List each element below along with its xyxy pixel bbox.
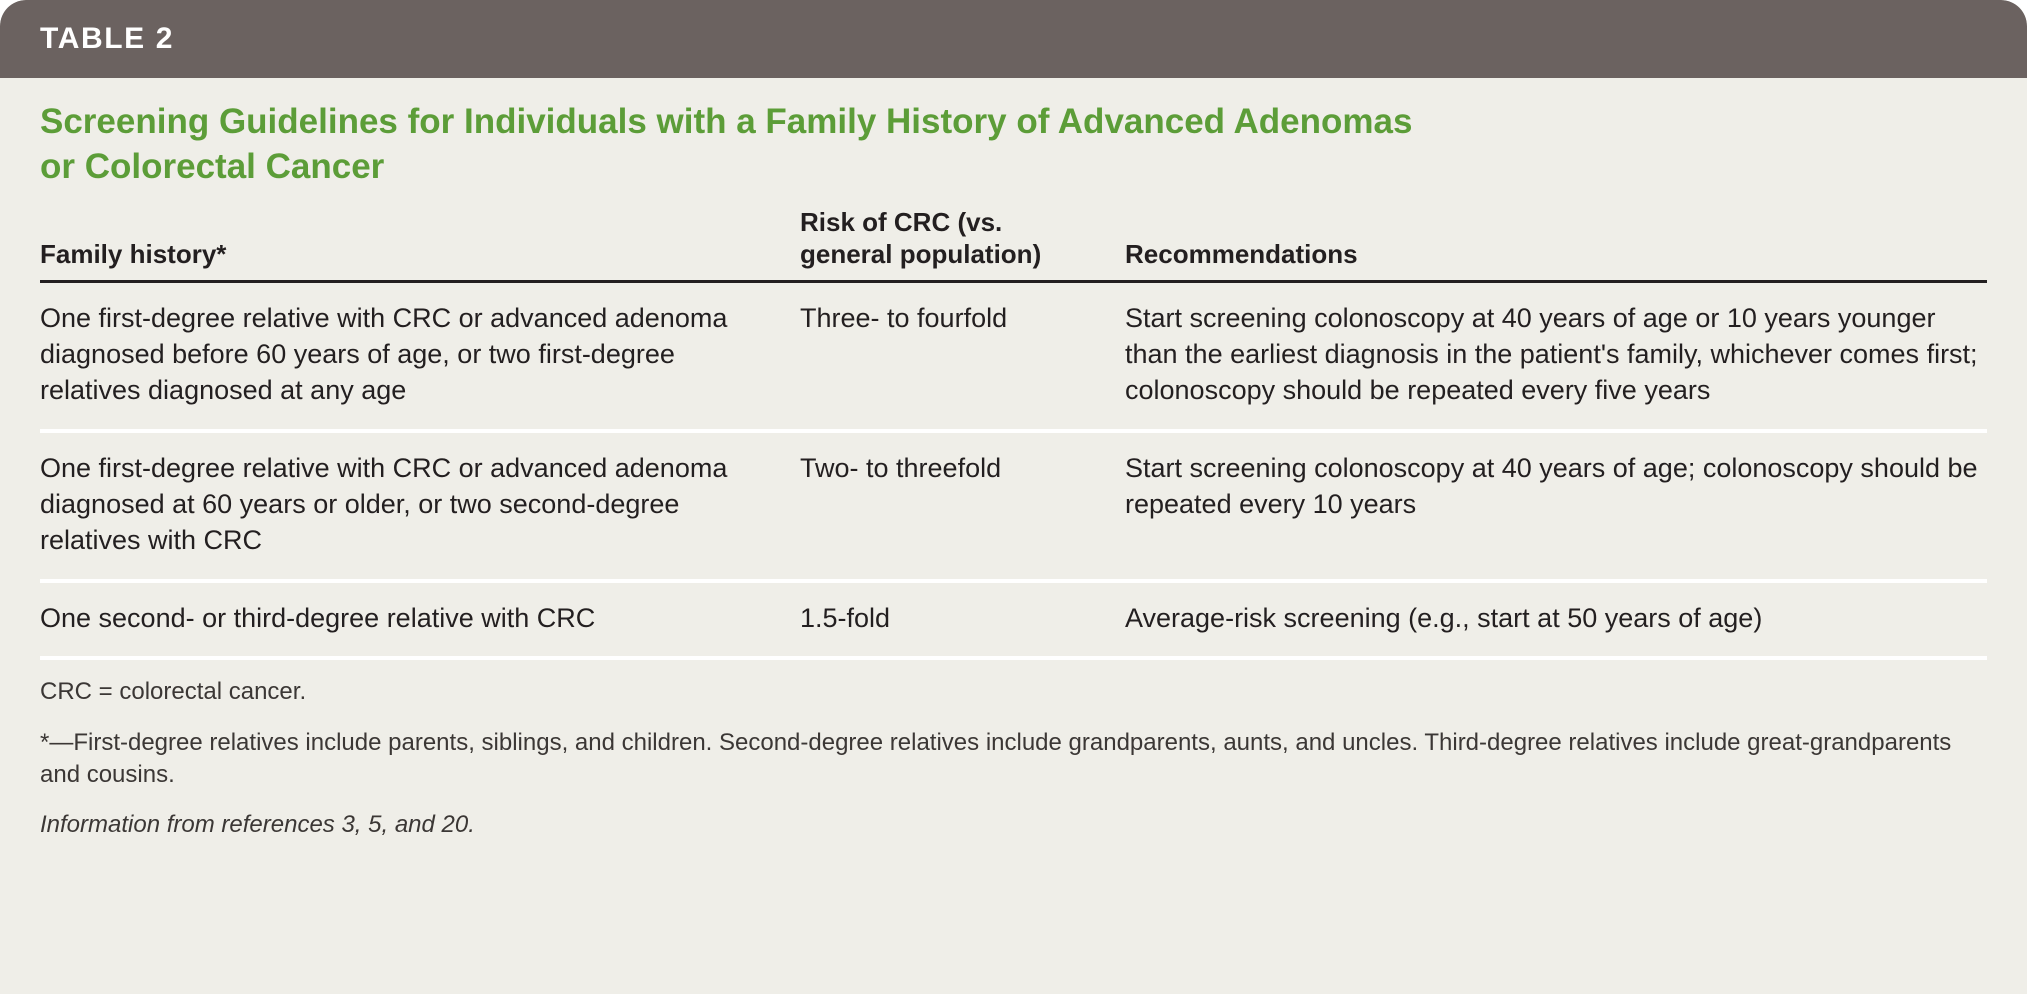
cell-risk: 1.5-fold	[800, 601, 1125, 637]
table-footnotes: CRC = colorectal cancer. *—First-degree …	[0, 660, 2027, 841]
cell-risk: Three- to fourfold	[800, 301, 1125, 337]
table-card: TABLE 2 Screening Guidelines for Individ…	[0, 0, 2027, 994]
table-row: One second- or third-degree relative wit…	[40, 583, 1987, 661]
cell-family-history: One first-degree relative with CRC or ad…	[40, 301, 800, 409]
footnote-abbreviation: CRC = colorectal cancer.	[40, 676, 1987, 708]
table-header-row: Family history* Risk of CRC (vs. general…	[40, 206, 1987, 283]
table-header-bar: TABLE 2	[0, 0, 2027, 78]
cell-recommendation: Start screening colonoscopy at 40 years …	[1125, 451, 1987, 523]
table-title: Screening Guidelines for Individuals wit…	[0, 78, 1480, 190]
column-header-risk-line-2: general population)	[800, 239, 1041, 269]
column-header-family-history: Family history*	[40, 238, 800, 270]
cell-family-history: One second- or third-degree relative wit…	[40, 601, 800, 637]
cell-recommendation: Start screening colonoscopy at 40 years …	[1125, 301, 1987, 409]
footnote-source: Information from references 3, 5, and 20…	[40, 809, 1987, 841]
cell-family-history: One first-degree relative with CRC or ad…	[40, 451, 800, 559]
table-number-label: TABLE 2	[40, 22, 174, 56]
table-title-line-2: or Colorectal Cancer	[40, 145, 1440, 190]
table-row: One first-degree relative with CRC or ad…	[40, 433, 1987, 583]
table-row: One first-degree relative with CRC or ad…	[40, 283, 1987, 433]
cell-recommendation: Average-risk screening (e.g., start at 5…	[1125, 601, 1987, 637]
column-header-risk: Risk of CRC (vs. general population)	[800, 206, 1125, 270]
footnote-asterisk: *—First-degree relatives include parents…	[40, 727, 1987, 791]
data-table: Family history* Risk of CRC (vs. general…	[0, 206, 2027, 661]
cell-risk: Two- to threefold	[800, 451, 1125, 487]
column-header-risk-line-1: Risk of CRC (vs.	[800, 207, 1002, 237]
column-header-recommendations: Recommendations	[1125, 238, 1987, 270]
table-title-line-1: Screening Guidelines for Individuals wit…	[40, 100, 1440, 145]
